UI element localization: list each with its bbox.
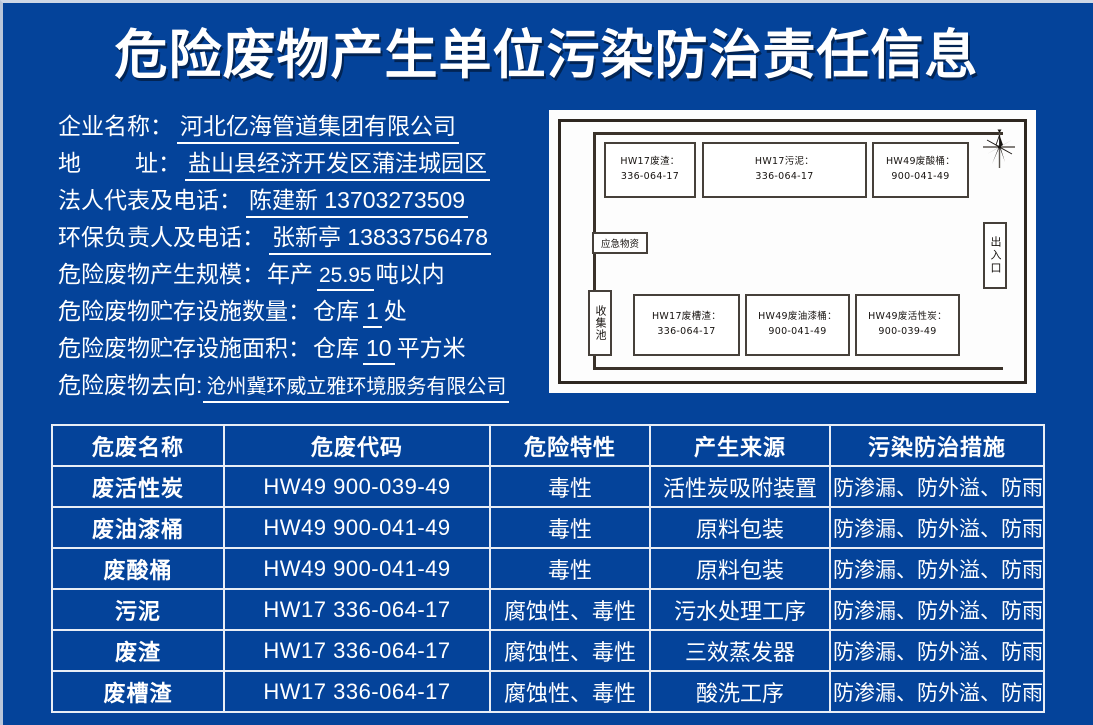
cell-hazard: 腐蚀性、毒性 [490, 589, 650, 630]
cell-source: 原料包装 [650, 548, 830, 589]
cell-code: HW17 336-064-17 [224, 671, 490, 712]
waste-table: 危废名称 危废代码 危险特性 产生来源 污染防治措施 废活性炭 HW49 900… [51, 424, 1045, 713]
cell-measures: 防渗漏、防外溢、防雨 [830, 630, 1044, 671]
label-env-officer: 环保负责人及电话： [58, 218, 265, 252]
diagram-collection-pool-label: 收集池 [592, 305, 608, 341]
table-row: 废活性炭 HW49 900-039-49 毒性 活性炭吸附装置 防渗漏、防外溢、… [52, 466, 1044, 507]
diagram-cell-bottom-1-name: HW17废槽渣： [652, 310, 721, 325]
suffix-facility-area: 平方米 [397, 329, 466, 363]
table-header-code: 危废代码 [224, 425, 490, 466]
value-company-name: 河北亿海管道集团有限公司 [177, 107, 459, 144]
diagram-gate-label: 出入口 [987, 236, 1003, 275]
diagram-cell-top-1-code: 336-064-17 [621, 170, 679, 185]
label-destination: 危险废物去向: [58, 366, 202, 400]
cell-hazard: 腐蚀性、毒性 [490, 630, 650, 671]
prefix-facility-count: 仓库 [313, 292, 359, 326]
cell-name: 废酸桶 [52, 548, 224, 589]
label-company-name: 企业名称： [58, 107, 173, 141]
label-facility-count: 危险废物贮存设施数量： [58, 292, 311, 326]
info-row-facility-count: 危险废物贮存设施数量： 仓库 1 处 [58, 292, 528, 329]
page-title: 危险废物产生单位污染防治责任信息 [115, 26, 979, 85]
value-legal-rep: 陈建新 13703273509 [246, 181, 468, 218]
value-generation-scale: 25.95 [317, 264, 374, 291]
cell-measures: 防渗漏、防外溢、防雨 [830, 507, 1044, 548]
diagram-cell-top-3-code: 900-041-49 [891, 170, 949, 185]
cell-hazard: 毒性 [490, 548, 650, 589]
cell-code: HW49 900-041-49 [224, 507, 490, 548]
value-destination: 沧州冀环威立雅环境服务有限公司 [203, 370, 509, 403]
label-generation-scale: 危险废物产生规模： [58, 255, 265, 289]
value-address: 盐山县经济开发区蒲洼城园区 [185, 144, 490, 181]
table-row: 废油漆桶 HW49 900-041-49 毒性 原料包装 防渗漏、防外溢、防雨 [52, 507, 1044, 548]
suffix-facility-count: 处 [384, 292, 407, 326]
cell-code: HW17 336-064-17 [224, 630, 490, 671]
diagram-cell-top-1-name: HW17废渣： [620, 155, 679, 170]
diagram-cell-top-3-name: HW49废酸桶： [886, 155, 955, 170]
prefix-generation-scale: 年产 [267, 255, 313, 289]
table-row: 废槽渣 HW17 336-064-17 腐蚀性、毒性 酸洗工序 防渗漏、防外溢、… [52, 671, 1044, 712]
cell-name: 污泥 [52, 589, 224, 630]
diagram-cell-top-2: HW17污泥： 336-064-17 [702, 142, 867, 198]
suffix-generation-scale: 吨以内 [376, 255, 445, 289]
diagram-cell-top-2-name: HW17污泥： [755, 155, 814, 170]
table-row: 污泥 HW17 336-064-17 腐蚀性、毒性 污水处理工序 防渗漏、防外溢… [52, 589, 1044, 630]
cell-measures: 防渗漏、防外溢、防雨 [830, 671, 1044, 712]
cell-measures: 防渗漏、防外溢、防雨 [830, 466, 1044, 507]
table-row: 废渣 HW17 336-064-17 腐蚀性、毒性 三效蒸发器 防渗漏、防外溢、… [52, 630, 1044, 671]
cell-code: HW49 900-039-49 [224, 466, 490, 507]
diagram-cell-bottom-2-code: 900-041-49 [768, 325, 826, 340]
diagram-cell-top-1: HW17废渣： 336-064-17 [604, 142, 696, 198]
info-row-company-name: 企业名称： 河北亿海管道集团有限公司 [58, 107, 528, 144]
title-container: 危险废物产生单位污染防治责任信息 [0, 26, 1093, 85]
diagram-cell-top-2-code: 336-064-17 [755, 170, 813, 185]
cell-hazard: 毒性 [490, 507, 650, 548]
table-header-hazard: 危险特性 [490, 425, 650, 466]
info-row-address: 地 址： 盐山县经济开发区蒲洼城园区 [58, 144, 528, 181]
diagram-cell-bottom-3-code: 900-039-49 [878, 325, 936, 340]
cell-name: 废油漆桶 [52, 507, 224, 548]
poster-root: 危险废物产生单位污染防治责任信息 企业名称： 河北亿海管道集团有限公司 地 址：… [0, 0, 1093, 725]
diagram-collection-pool-box: 收集池 [588, 290, 612, 356]
label-address-char1: 地 [58, 144, 81, 178]
table-header-row: 危废名称 危废代码 危险特性 产生来源 污染防治措施 [52, 425, 1044, 466]
cell-hazard: 毒性 [490, 466, 650, 507]
info-row-env-officer: 环保负责人及电话： 张新亭 13833756478 [58, 218, 528, 255]
diagram-emergency-supplies-label: 应急物资 [601, 236, 639, 250]
diagram-gate-box: 出入口 [983, 222, 1007, 289]
cell-code: HW17 336-064-17 [224, 589, 490, 630]
diagram-cell-bottom-2: HW49废油漆桶： 900-041-49 [745, 294, 850, 356]
cell-measures: 防渗漏、防外溢、防雨 [830, 589, 1044, 630]
label-legal-rep: 法人代表及电话： [58, 181, 242, 215]
value-facility-area: 10 [363, 335, 395, 365]
company-info-block: 企业名称： 河北亿海管道集团有限公司 地 址： 盐山县经济开发区蒲洼城园区 法人… [58, 107, 528, 403]
table-header-source: 产生来源 [650, 425, 830, 466]
diagram-cell-top-3: HW49废酸桶： 900-041-49 [872, 142, 969, 198]
cell-source: 原料包装 [650, 507, 830, 548]
cell-measures: 防渗漏、防外溢、防雨 [830, 548, 1044, 589]
info-row-legal-rep: 法人代表及电话： 陈建新 13703273509 [58, 181, 528, 218]
north-arrow-compass-icon [979, 128, 1017, 170]
cell-source: 三效蒸发器 [650, 630, 830, 671]
diagram-cell-bottom-2-name: HW49废油漆桶： [758, 310, 837, 325]
table-row: 废酸桶 HW49 900-041-49 毒性 原料包装 防渗漏、防外溢、防雨 [52, 548, 1044, 589]
table-header-measures: 污染防治措施 [830, 425, 1044, 466]
info-row-facility-area: 危险废物贮存设施面积： 仓库 10 平方米 [58, 329, 528, 366]
info-row-destination: 危险废物去向: 沧州冀环威立雅环境服务有限公司 [58, 366, 528, 403]
diagram-emergency-supplies-box: 应急物资 [592, 232, 648, 254]
label-address-char2: 址： [135, 144, 181, 178]
info-row-generation-scale: 危险废物产生规模： 年产 25.95 吨以内 [58, 255, 528, 292]
cell-hazard: 腐蚀性、毒性 [490, 671, 650, 712]
value-facility-count: 1 [363, 298, 382, 328]
diagram-cell-bottom-1: HW17废槽渣： 336-064-17 [633, 294, 740, 356]
waste-table-container: 危废名称 危废代码 危险特性 产生来源 污染防治措施 废活性炭 HW49 900… [51, 424, 1043, 700]
label-facility-area: 危险废物贮存设施面积： [58, 329, 311, 363]
cell-source: 污水处理工序 [650, 589, 830, 630]
diagram-cell-bottom-3: HW49废活性炭： 900-039-49 [855, 294, 960, 356]
cell-name: 废渣 [52, 630, 224, 671]
cell-name: 废活性炭 [52, 466, 224, 507]
diagram-cell-bottom-3-name: HW49废活性炭： [868, 310, 947, 325]
cell-code: HW49 900-041-49 [224, 548, 490, 589]
cell-name: 废槽渣 [52, 671, 224, 712]
table-header-name: 危废名称 [52, 425, 224, 466]
cell-source: 酸洗工序 [650, 671, 830, 712]
value-env-officer: 张新亭 13833756478 [269, 218, 491, 255]
diagram-cell-bottom-1-code: 336-064-17 [657, 325, 715, 340]
prefix-facility-area: 仓库 [313, 329, 359, 363]
cell-source: 活性炭吸附装置 [650, 466, 830, 507]
